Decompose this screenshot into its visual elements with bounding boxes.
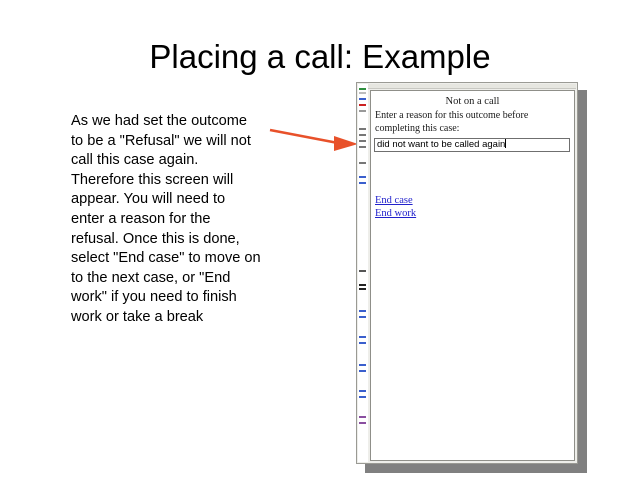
screenshot-shadow-right [578, 90, 587, 472]
reason-input[interactable]: did not want to be called again [374, 138, 570, 152]
red-arrow-icon [268, 122, 360, 154]
app-heading: Not on a call [371, 96, 574, 107]
embedded-app-screenshot: Not on a call Enter a reason for this ou… [356, 82, 578, 464]
page-title: Placing a call: Example [0, 38, 640, 76]
screenshot-shadow-bottom [365, 464, 587, 473]
reason-input-value: did not want to be called again [377, 139, 505, 150]
end-work-link[interactable]: End work [375, 207, 416, 220]
slide-body-text: As we had set the outcome to be a "Refus… [71, 112, 261, 328]
app-instruction-text: Enter a reason for this outcome before c… [375, 110, 570, 135]
text-caret [505, 139, 506, 148]
background-page-gutter [358, 84, 368, 462]
app-content-page: Not on a call Enter a reason for this ou… [370, 90, 575, 461]
app-action-links: End case End work [375, 194, 574, 220]
end-case-link[interactable]: End case [375, 194, 413, 207]
app-top-strip [368, 84, 576, 89]
app-window-chrome: Not on a call Enter a reason for this ou… [356, 82, 578, 464]
